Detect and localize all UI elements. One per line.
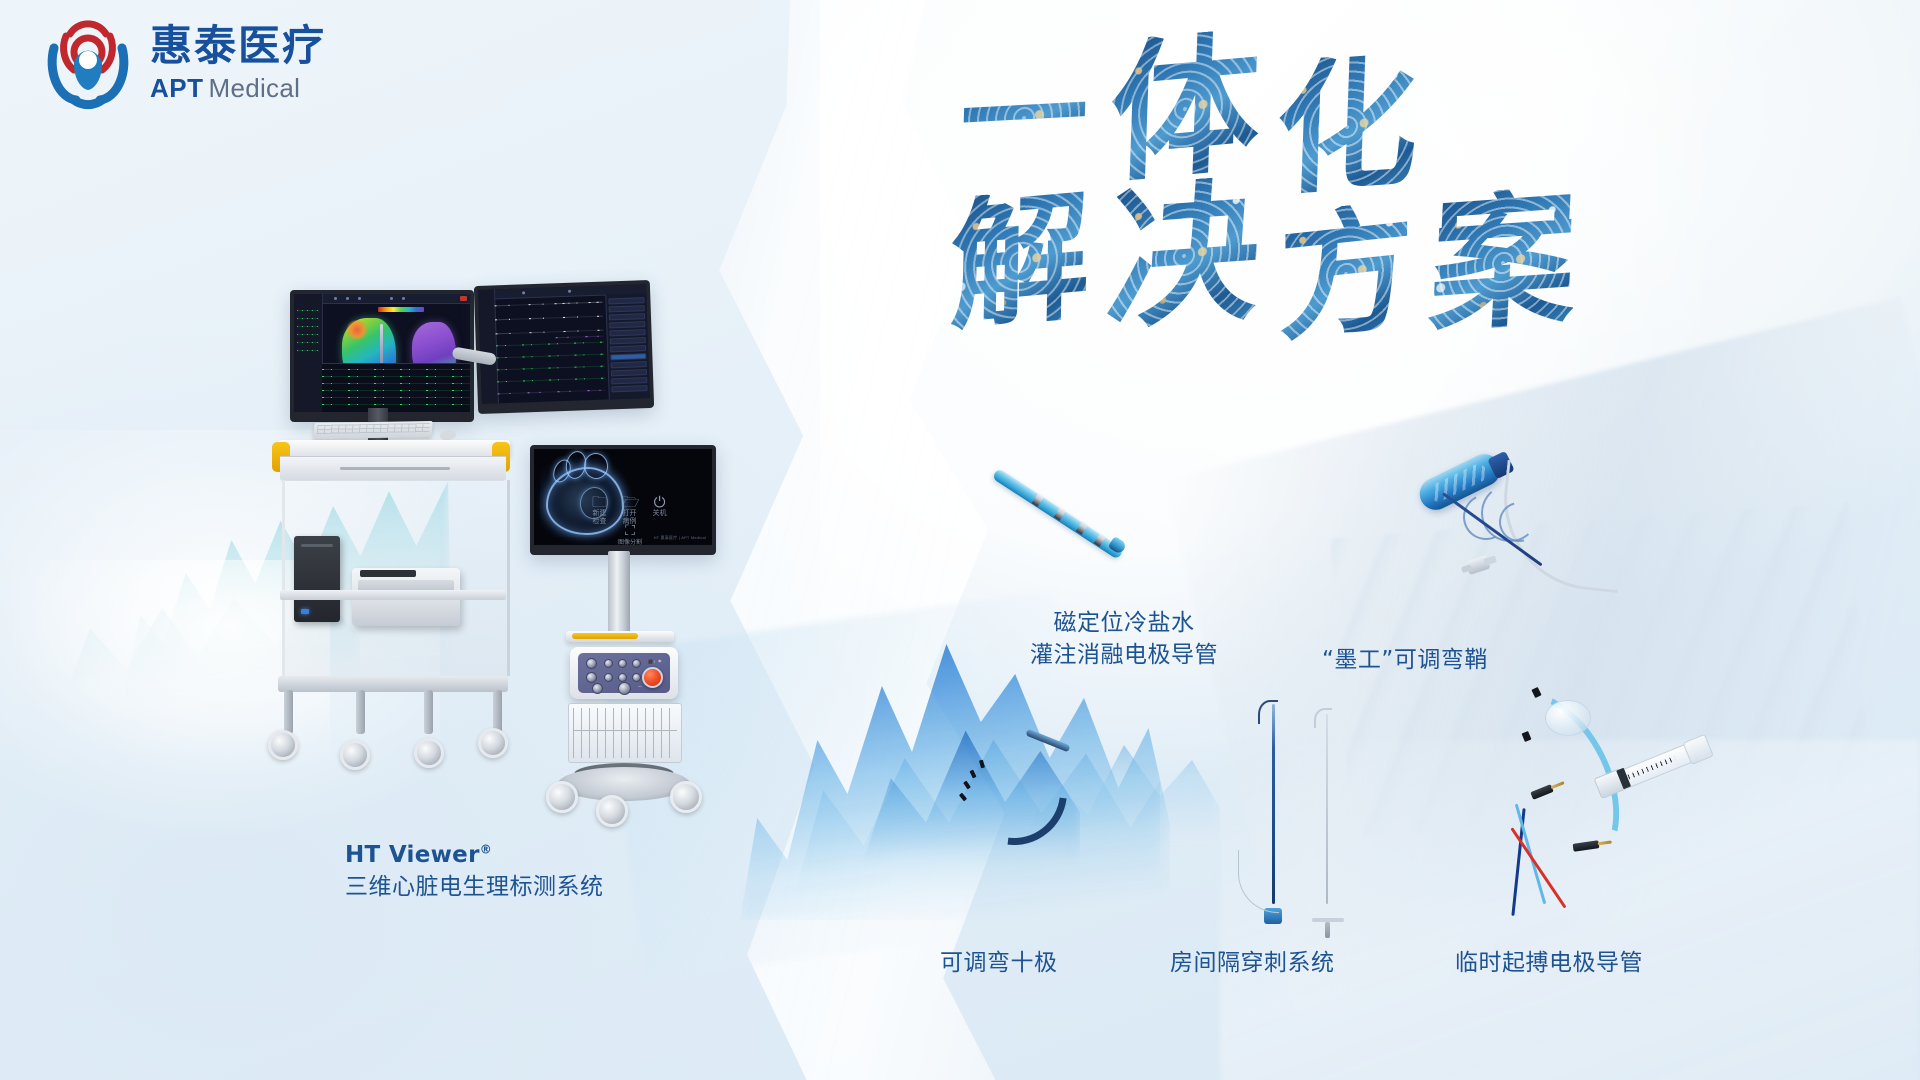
display-cart-caster [670, 781, 702, 813]
temporary-pacing-catheter-illustration [1495, 690, 1735, 920]
workstation-cart [278, 440, 538, 800]
computer-tower [294, 536, 340, 622]
transseptal-dilator [1326, 714, 1328, 904]
caption-ablation-line2: 灌注消融电极导管 [1030, 640, 1218, 672]
cart-caster [268, 730, 298, 760]
headline-char-7: 案 [1426, 184, 1579, 341]
headline-char-4: 解 [949, 186, 1091, 339]
display-cart-pole [608, 551, 630, 635]
ecg-monitor-screen [478, 284, 650, 404]
cart-caster [340, 740, 370, 770]
cart-legs [284, 690, 502, 742]
apt-medical-circles-logo-icon [40, 18, 136, 110]
heart-display-monitor: 🗀 新建检查 🗁 打开病例 ⏻ 关机 ⛶ 图像分割 HT [530, 445, 716, 555]
cart-caster [414, 738, 444, 768]
power-icon[interactable]: ⏻ 关机 [651, 495, 668, 518]
display-cart-caster [546, 781, 578, 813]
caption-transseptal-system: 房间隔穿刺系统 [1170, 948, 1335, 979]
transseptal-guidewire [1238, 850, 1279, 913]
inflation-syringe [1604, 733, 1710, 796]
cart-caster [478, 728, 508, 758]
caption-ablation-catheter: 磁定位冷盐水 灌注消融电极导管 [1030, 608, 1218, 671]
dilator-hub [1312, 918, 1344, 922]
rf-generator-panel[interactable]: ⬛ I ◉ 〜 [578, 653, 670, 693]
power-label: 关机 [653, 510, 667, 517]
steerable-sheath-illustration [1415, 440, 1650, 610]
cart-drawer[interactable] [280, 456, 506, 481]
ecg-channel-list [605, 293, 650, 399]
caption-ht-viewer-en: HT Viewer® [345, 840, 604, 872]
mapping-monitor-screen [294, 294, 470, 412]
brand-name-en-light: Medical [209, 73, 301, 104]
headline-char-1: 一 [958, 50, 1090, 185]
headline-calligraphy: 一 体 化 解 决 方 案 [960, 40, 1680, 340]
caption-ht-viewer-cn: 三维心脏电生理标测系统 [345, 872, 604, 904]
ecg-side-rail [478, 289, 499, 404]
cart-worktop [278, 440, 510, 456]
ablation-catheter-illustration [985, 455, 1165, 585]
cart-shelf [280, 590, 506, 600]
dilator-tip [1314, 708, 1332, 728]
ecg-recorder-monitor [474, 280, 654, 414]
transseptal-system-illustration [1230, 700, 1360, 920]
display-cart-caster [596, 795, 628, 827]
heart-display-screen: 🗀 新建检查 🗁 打开病例 ⏻ 关机 ⛶ 图像分割 HT [534, 449, 712, 545]
caption-ht-viewer: HT Viewer® 三维心脏电生理标测系统 [345, 840, 604, 903]
headline-char-3: 化 [1274, 51, 1421, 204]
rf-generator: ⬛ I ◉ 〜 [570, 647, 678, 699]
mapping-side-rail [294, 294, 323, 412]
brand-logo: 惠泰医疗 APT Medical [40, 18, 326, 110]
screen-footer-brand: HT 惠泰医疗 | APT Medical [654, 535, 706, 541]
accessory-basket [568, 703, 682, 763]
sheath-side-port [1465, 555, 1490, 575]
mapping-ecg-panel [322, 363, 470, 412]
brand-wordmark: 惠泰医疗 APT Medical [150, 24, 326, 103]
generator-power-button[interactable] [642, 667, 663, 688]
transseptal-needle-tip [1258, 700, 1278, 724]
segmentation-label: 图像分割 [618, 540, 642, 545]
voltage-color-scale [378, 307, 424, 312]
brand-name-cn: 惠泰医疗 [150, 24, 326, 68]
caption-steerable-sheath: “墨工”可调弯鞘 [1322, 645, 1488, 676]
new-study-label: 新建检查 [593, 510, 607, 525]
decapolar-catheter-illustration [955, 735, 1075, 845]
display-cart-tray-accent [572, 633, 638, 639]
pacing-catheter-balloon [1545, 700, 1591, 736]
brand-name-en-bold: APT [150, 73, 204, 104]
mapping-monitor-primary [290, 290, 474, 422]
headline-char-6: 方 [1278, 199, 1413, 350]
headline-char-5: 决 [1103, 174, 1265, 338]
caption-temporary-pacing-catheter: 临时起搏电极导管 [1455, 948, 1643, 979]
heart-display-cart: 🗀 新建检查 🗁 打开病例 ⏻ 关机 ⛶ 图像分割 HT [530, 445, 740, 845]
caption-decapolar-catheter: 可调弯十极 [940, 948, 1058, 979]
caption-ablation-line1: 磁定位冷盐水 [1030, 608, 1218, 640]
segmentation-icon[interactable]: ⛶ 图像分割 [618, 523, 642, 545]
brand-name-en: APT Medical [150, 73, 326, 104]
new-study-icon[interactable]: 🗀 新建检查 [591, 495, 608, 526]
workstation-keyboard[interactable] [313, 421, 433, 439]
poster-canvas: 惠泰医疗 APT Medical 一 体 化 解 决 方 案 [0, 0, 1920, 1080]
